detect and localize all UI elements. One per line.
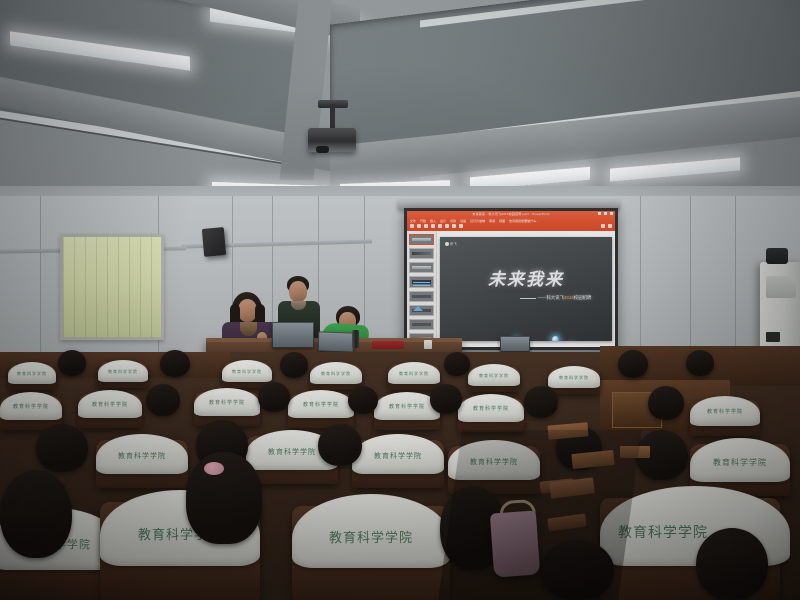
audience-head (58, 350, 86, 376)
chair-cover-text: 教育科学学院 (0, 403, 62, 410)
red-folder[interactable] (372, 341, 404, 349)
presentation-app-window: 未来我来 - 科大讯飞2016校园招聘.pptx - PowerPoint 文件… (407, 211, 615, 347)
wall-seam (40, 196, 41, 371)
slide-thumbnail[interactable] (409, 305, 434, 316)
chair-cover: 教育科学学院 (8, 362, 56, 384)
audience-head (146, 384, 180, 416)
slide-thumbnail[interactable] (409, 234, 434, 245)
audience-head (444, 352, 470, 376)
slide-thumbnail-pane[interactable] (407, 231, 437, 347)
projector-lens (316, 146, 329, 153)
logo-mark-icon (445, 242, 449, 246)
window-controls[interactable] (598, 212, 613, 215)
subtitle-year: 2016 (564, 295, 574, 300)
chair-cover: 教育科学学院 (98, 360, 148, 382)
hair-tie (204, 462, 224, 475)
tab-view[interactable]: 视图 (499, 219, 505, 223)
audience-head (0, 470, 72, 558)
wall-seam (640, 196, 641, 371)
chair-cover: 教育科学学院 (96, 434, 188, 474)
ribbon-toolbar-left[interactable] (410, 224, 463, 228)
bullets-icon[interactable] (438, 224, 442, 228)
shapes-icon[interactable] (452, 224, 456, 228)
app-ribbon: 未来我来 - 科大讯飞2016校园招聘.pptx - PowerPoint 文件… (407, 211, 615, 231)
chair-cover: 教育科学学院 (310, 362, 362, 384)
laptop-screen (319, 332, 354, 351)
tell-me-box[interactable]: 告诉我您想要做什么... (509, 219, 539, 223)
wall-speaker (202, 227, 226, 257)
chair-cover: 教育科学学院 (78, 390, 142, 418)
align-icon[interactable] (445, 224, 449, 228)
chair-cover-text: 教育科学学院 (222, 369, 272, 375)
chair-cover: 教育科学学院 (288, 390, 354, 418)
slide-editing-stage[interactable]: 讯飞 未来我来 ——科大讯飞2016校园招聘 (437, 231, 615, 347)
chair-cover-text: 教育科学学院 (690, 408, 760, 415)
chair-cover-text: 教育科学学院 (548, 375, 600, 381)
audience-head (318, 424, 362, 466)
thumbnail-preview (412, 323, 431, 326)
restore-icon[interactable] (604, 212, 607, 215)
head (289, 281, 307, 302)
thumbnail-preview (412, 266, 431, 269)
chair-cover: 教育科学学院 (690, 396, 760, 426)
laptop-screen (501, 337, 529, 351)
slide-subtitle: ——科大讯飞2016校园招聘 (520, 295, 592, 301)
audience-head (258, 382, 290, 412)
chair-cover-text: 教育科学学院 (78, 401, 142, 408)
projector-mount-pole (330, 104, 335, 130)
slide-title: 未来我来 (440, 265, 612, 290)
paper-cup[interactable] (424, 340, 432, 349)
thumbnail-preview (412, 252, 431, 255)
subtitle-rule (520, 298, 536, 299)
current-slide[interactable]: 讯飞 未来我来 ——科大讯飞2016校园招聘 (440, 237, 612, 340)
slide-thumbnail[interactable] (409, 248, 434, 259)
audience-head (160, 350, 190, 377)
audience-head (618, 350, 648, 378)
slide-thumbnail[interactable] (409, 319, 434, 330)
thumbnail-preview (412, 238, 431, 241)
ceiling-light-panel-4 (610, 157, 740, 181)
audience-head (348, 386, 378, 414)
chair-cover-text: 教育科学学院 (8, 371, 56, 377)
audience-head (524, 386, 558, 418)
slide-thumbnail[interactable] (409, 276, 434, 287)
thumbnail-preview (412, 295, 431, 298)
ribbon-tabs[interactable]: 文件 开始 插入 设计 切换 动画 幻灯片放映 审阅 视图 告诉我您想要做什么.… (410, 219, 539, 223)
chair-cover-text: 教育科学学院 (352, 451, 444, 461)
laptop-screen (273, 323, 313, 347)
laptop-far-right[interactable] (500, 336, 530, 352)
audience-head (686, 350, 714, 376)
wall-seam (735, 196, 736, 371)
chair-cover-text: 教育科学学院 (98, 369, 148, 375)
chair-cover: 教育科学学院 (352, 434, 444, 474)
chair-cover: 教育科学学院 (690, 438, 790, 482)
arrange-icon[interactable] (459, 224, 463, 228)
tab-review[interactable]: 审阅 (489, 219, 495, 223)
chair-cover: 教育科学学院 (458, 394, 524, 422)
tab-design[interactable]: 设计 (440, 219, 446, 223)
tab-file[interactable]: 文件 (410, 219, 416, 223)
window-blinds[interactable] (60, 234, 164, 340)
air-conditioner-top-unit (766, 248, 788, 264)
tab-animations[interactable]: 动画 (460, 219, 466, 223)
chair-cover-text: 教育科学学院 (292, 527, 450, 546)
chair-cover: 教育科学学院 (468, 364, 520, 386)
wall-seam (690, 196, 691, 371)
audience-head (696, 528, 768, 600)
tab-transitions[interactable]: 切换 (450, 219, 456, 223)
slide-thumbnail[interactable] (409, 291, 434, 302)
chair-cover: 教育科学学院 (388, 362, 440, 384)
new-slide-icon[interactable] (417, 224, 421, 228)
share-icon[interactable] (601, 224, 605, 228)
lecture-hall-photo: Midea 未来我来 - 科大讯飞2016校园招聘.pptx - PowerPo… (0, 0, 800, 600)
vertical-blind-slats[interactable] (63, 237, 161, 337)
audience-head (186, 452, 262, 544)
network-node (552, 336, 559, 340)
chair-cover: 教育科学学院 (222, 360, 272, 382)
chair-cover-text: 教育科学学院 (194, 399, 260, 406)
font-icon[interactable] (424, 224, 428, 228)
aisle-shadow (438, 430, 642, 600)
find-icon[interactable] (608, 224, 612, 228)
chair-cover-text: 教育科学学院 (288, 401, 354, 408)
audience-head (648, 386, 684, 420)
projection-screen: 未来我来 - 科大讯飞2016校园招聘.pptx - PowerPoint 文件… (404, 208, 618, 350)
chair-cover: 教育科学学院 (548, 366, 600, 388)
chair-cover: 教育科学学院 (0, 392, 62, 420)
bold-icon[interactable] (431, 224, 435, 228)
minimize-icon[interactable] (598, 212, 601, 215)
air-conditioner-vent (766, 276, 796, 298)
close-icon[interactable] (610, 212, 613, 215)
laptop-left[interactable] (272, 322, 314, 348)
ribbon-toolbar-right[interactable] (601, 224, 612, 228)
tab-insert[interactable]: 插入 (430, 219, 436, 223)
laptop-right[interactable] (318, 331, 355, 352)
thumbnail-preview (412, 280, 431, 283)
subtitle-lead: ——科大讯飞 (538, 295, 564, 300)
chair-cover-text: 教育科学学院 (690, 457, 790, 468)
air-conditioner-control-panel[interactable] (766, 332, 780, 342)
chair-cover-text: 教育科学学院 (468, 373, 520, 379)
paste-icon[interactable] (410, 224, 414, 228)
chair-cover-text: 教育科学学院 (310, 371, 362, 377)
audience-head (280, 352, 308, 378)
ceiling (0, 0, 800, 215)
tab-home[interactable]: 开始 (420, 219, 426, 223)
logo-text: 讯飞 (450, 241, 457, 246)
slide-logo: 讯飞 (445, 241, 457, 246)
chair-cover: 教育科学学院 (194, 388, 260, 416)
tab-slideshow[interactable]: 幻灯片放映 (470, 219, 485, 223)
app-title-bar-text: 未来我来 - 科大讯飞2016校园招聘.pptx - PowerPoint (472, 212, 549, 216)
chair-cover-text: 教育科学学院 (458, 405, 524, 412)
audience-head (430, 384, 462, 414)
subtitle-tail: 校园招聘 (574, 295, 592, 300)
chair-cover-text: 教育科学学院 (388, 371, 440, 377)
thumbnail-preview (412, 309, 431, 312)
chair-cover-text: 教育科学学院 (96, 451, 188, 461)
app-body: 讯飞 未来我来 ——科大讯飞2016校园招聘 (407, 231, 615, 347)
thermos-bottle[interactable] (352, 330, 359, 348)
slide-thumbnail[interactable] (409, 262, 434, 273)
audience-head (36, 424, 88, 472)
